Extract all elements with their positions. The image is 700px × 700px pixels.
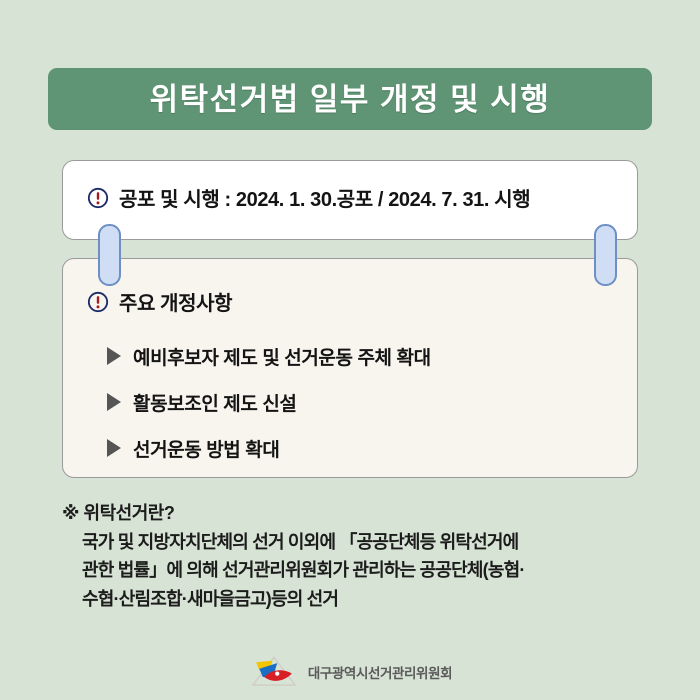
triangle-right-icon <box>107 347 121 365</box>
footer: 대구광역시선거관리위원회 <box>0 652 700 692</box>
footnote-title-label: 위탁선거란? <box>84 503 175 523</box>
footnote: ※ 위탁선거란? 국가 및 지방자치단체의 선거 이외에 「공공단체등 위탁선거… <box>62 500 662 613</box>
changes-list: 예비후보자 제도 및 선거운동 주체 확대 활동보조인 제도 신설 선거운동 방… <box>107 333 617 471</box>
footnote-marker: ※ <box>62 503 79 523</box>
list-item: 예비후보자 제도 및 선거운동 주체 확대 <box>107 333 617 379</box>
page-title: 위탁선거법 일부 개정 및 시행 <box>150 84 551 115</box>
list-item: 선거운동 방법 확대 <box>107 425 617 471</box>
nec-bird-logo-icon <box>248 652 300 692</box>
changes-heading-label: 주요 개정사항 <box>119 287 232 316</box>
list-item: 활동보조인 제도 신설 <box>107 379 617 425</box>
exclamation-circle-icon <box>87 187 109 209</box>
triangle-right-icon <box>107 393 121 411</box>
title-banner: 위탁선거법 일부 개정 및 시행 <box>48 68 652 130</box>
organization-name: 대구광역시선거관리위원회 <box>308 662 452 682</box>
changes-card: 주요 개정사항 예비후보자 제도 및 선거운동 주체 확대 활동보조인 제도 신… <box>62 258 638 478</box>
footnote-line: 국가 및 지방자치단체의 선거 이외에 「공공단체등 위탁선거에 <box>82 528 662 556</box>
list-item-label: 활동보조인 제도 신설 <box>133 389 296 416</box>
triangle-right-icon <box>107 439 121 457</box>
notice-card-heading: 공포 및 시행 : 2024. 1. 30.공포 / 2024. 7. 31. … <box>87 183 530 212</box>
footnote-line: 관한 법률」에 의해 선거관리위원회가 관리하는 공공단체(농협· <box>82 556 662 584</box>
exclamation-circle-icon <box>87 291 109 313</box>
footnote-line: 수협·산림조합·새마을금고)등의 선거 <box>82 585 662 613</box>
changes-card-heading: 주요 개정사항 <box>87 287 232 316</box>
binder-ring-left <box>98 224 121 286</box>
infographic-page: 위탁선거법 일부 개정 및 시행 공포 및 시행 : 2024. 1. 30.공… <box>0 0 700 700</box>
notice-card: 공포 및 시행 : 2024. 1. 30.공포 / 2024. 7. 31. … <box>62 160 638 240</box>
footnote-body: 국가 및 지방자치단체의 선거 이외에 「공공단체등 위탁선거에 관한 법률」에… <box>82 528 662 613</box>
notice-text: 공포 및 시행 : 2024. 1. 30.공포 / 2024. 7. 31. … <box>119 183 530 212</box>
list-item-label: 선거운동 방법 확대 <box>133 435 279 462</box>
footnote-title: ※ 위탁선거란? <box>62 500 662 528</box>
binder-ring-right <box>594 224 617 286</box>
list-item-label: 예비후보자 제도 및 선거운동 주체 확대 <box>133 343 431 370</box>
